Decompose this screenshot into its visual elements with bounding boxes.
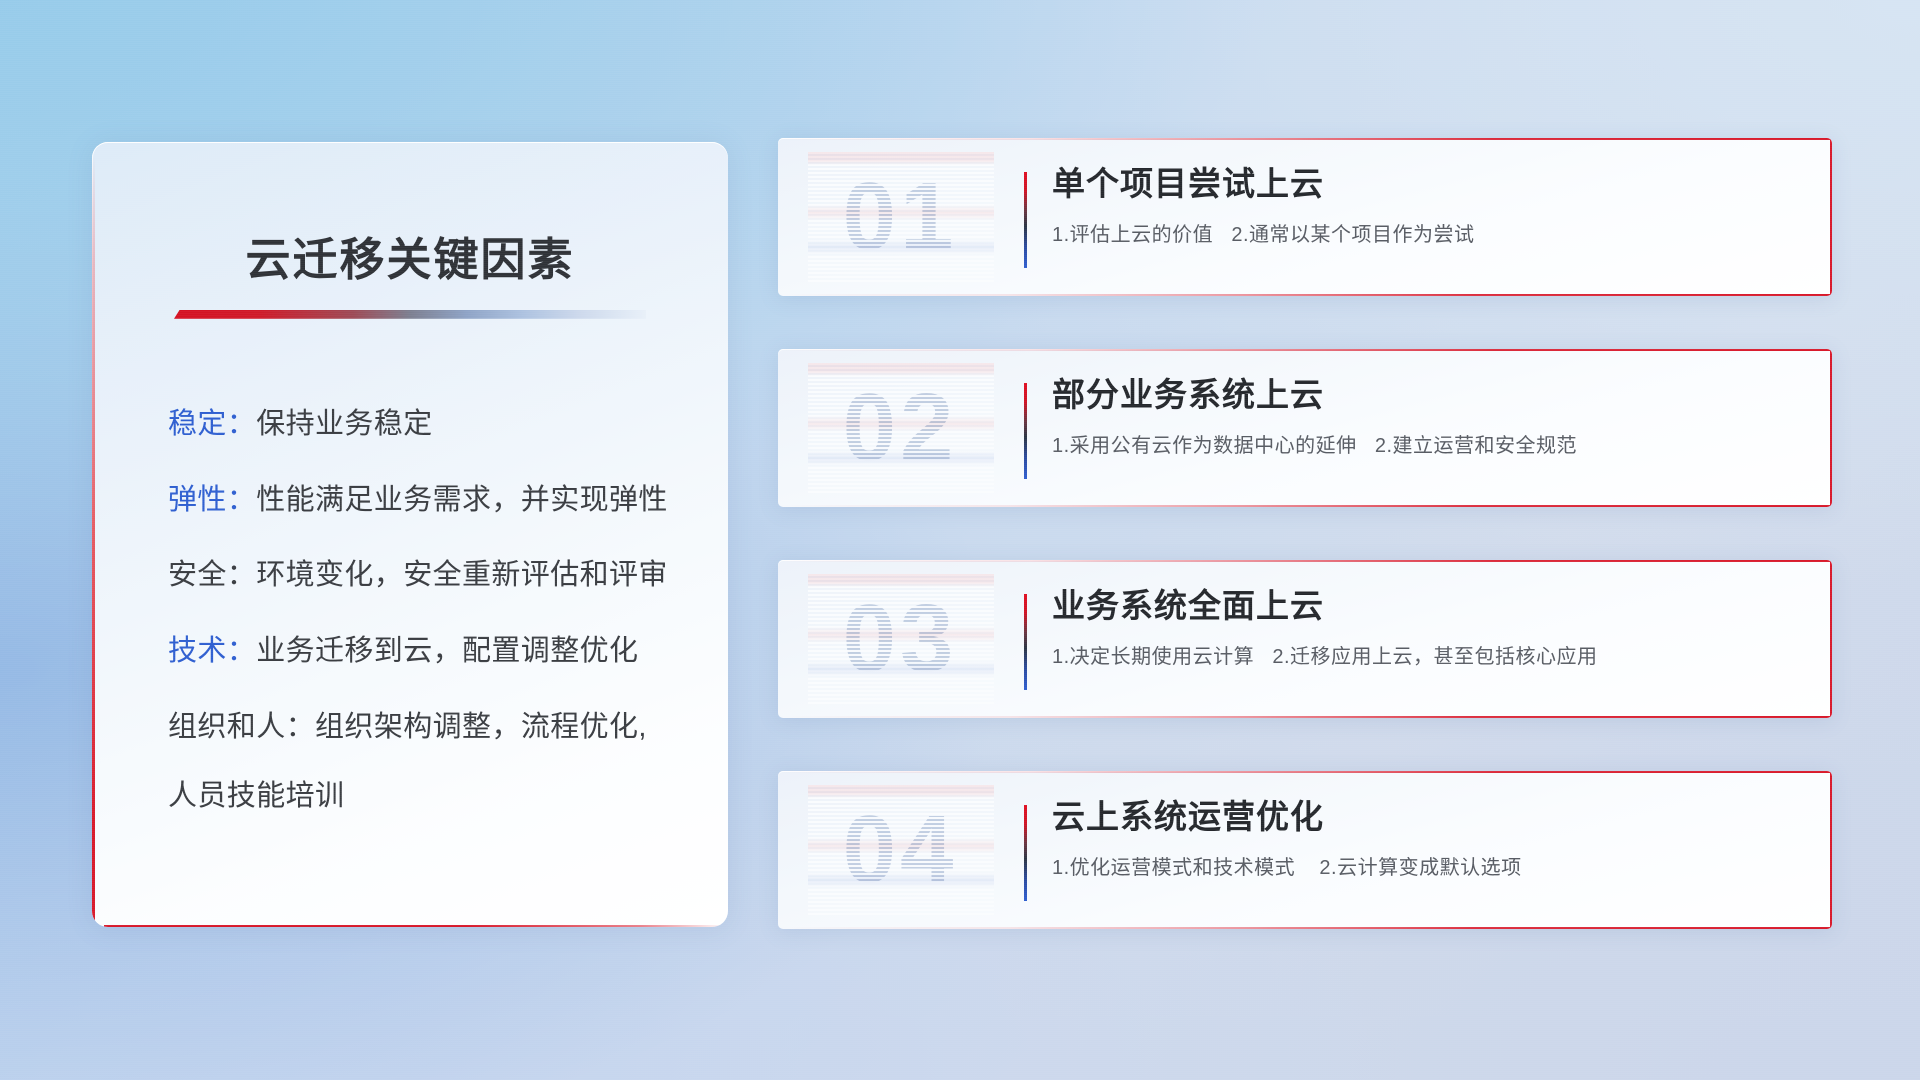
list-item: 组织和人：组织架构调整，流程优化, [168,708,674,747]
list-item: 稳定：保持业务稳定 [168,405,674,444]
stage-card-01[interactable]: 01 单个项目尝试上云 1.评估上云的价值 2.通常以某个项目作为尝试 [778,138,1832,296]
factor-label: 技术： [168,635,256,667]
title-underline-gradient [174,310,646,319]
card-top-border [778,349,1832,351]
stage-divider-bar [1024,594,1027,690]
card-top-border [778,771,1832,773]
factor-text: 保持业务稳定 [256,408,432,440]
factor-list: 稳定：保持业务稳定 弹性：性能满足业务需求，并实现弹性 安全：环境变化，安全重新… [146,405,674,816]
factor-label: 稳定： [168,408,256,440]
stage-card-02[interactable]: 02 部分业务系统上云 1.采用公有云作为数据中心的延伸 2.建立运营和安全规范 [778,349,1832,507]
list-item-continuation: 人员技能培训 [168,777,674,816]
factor-text: 环境变化，安全重新评估和评审 [256,559,668,591]
panel-content: 云迁移关键因素 稳定：保持业务稳定 弹性：性能满足业务需求，并实现弹性 安全：环… [92,142,728,927]
stage-divider-bar [1024,805,1027,901]
factor-label: 安全： [168,559,256,591]
stage-description: 1.评估上云的价值 2.通常以某个项目作为尝试 [1052,222,1784,248]
key-factors-panel: 云迁移关键因素 稳定：保持业务稳定 弹性：性能满足业务需求，并实现弹性 安全：环… [92,142,728,927]
list-item: 安全：环境变化，安全重新评估和评审 [168,556,674,595]
stage-title: 业务系统全面上云 [1052,586,1784,626]
card-bottom-border [778,505,1832,507]
card-right-border [1830,349,1833,507]
stage-title: 云上系统运营优化 [1052,797,1784,837]
list-item: 弹性：性能满足业务需求，并实现弹性 [168,481,674,520]
page-title: 云迁移关键因素 [146,234,674,286]
stage-number-watermark: 01 [816,160,984,274]
card-bottom-border [778,716,1832,718]
factor-label: 组织和人： [168,711,315,743]
stage-title: 单个项目尝试上云 [1052,164,1784,204]
stage-card-03[interactable]: 03 业务系统全面上云 1.决定长期使用云计算 2.迁移应用上云，甚至包括核心应… [778,560,1832,718]
card-bottom-border [778,294,1832,296]
stage-divider-bar [1024,383,1027,479]
stage-description: 1.决定长期使用云计算 2.迁移应用上云，甚至包括核心应用 [1052,644,1784,670]
stage-card-04[interactable]: 04 云上系统运营优化 1.优化运营模式和技术模式 2.云计算变成默认选项 [778,771,1832,929]
stage-number-watermark: 04 [816,793,984,907]
list-item: 技术：业务迁移到云，配置调整优化 [168,632,674,671]
card-top-border [778,138,1832,140]
stage-description: 1.优化运营模式和技术模式 2.云计算变成默认选项 [1052,855,1784,881]
stage-text-block: 部分业务系统上云 1.采用公有云作为数据中心的延伸 2.建立运营和安全规范 [1052,375,1784,459]
factor-text: 组织架构调整，流程优化, [315,711,647,743]
factor-label: 弹性： [168,484,256,516]
slide-canvas: 云迁移关键因素 稳定：保持业务稳定 弹性：性能满足业务需求，并实现弹性 安全：环… [0,0,1920,1080]
card-top-border [778,560,1832,562]
factor-text: 业务迁移到云，配置调整优化 [256,635,638,667]
stage-text-block: 单个项目尝试上云 1.评估上云的价值 2.通常以某个项目作为尝试 [1052,164,1784,248]
card-right-border [1830,560,1833,718]
card-right-border [1830,138,1833,296]
card-bottom-border [778,927,1832,929]
stage-title: 部分业务系统上云 [1052,375,1784,415]
card-right-border [1830,771,1833,929]
stage-description: 1.采用公有云作为数据中心的延伸 2.建立运营和安全规范 [1052,433,1784,459]
stage-number-watermark: 03 [816,582,984,696]
stage-text-block: 云上系统运营优化 1.优化运营模式和技术模式 2.云计算变成默认选项 [1052,797,1784,881]
stage-number-watermark: 02 [816,371,984,485]
factor-text: 性能满足业务需求，并实现弹性 [256,484,668,516]
stage-divider-bar [1024,172,1027,268]
stage-text-block: 业务系统全面上云 1.决定长期使用云计算 2.迁移应用上云，甚至包括核心应用 [1052,586,1784,670]
migration-stage-list: 01 单个项目尝试上云 1.评估上云的价值 2.通常以某个项目作为尝试 02 部… [778,138,1832,929]
